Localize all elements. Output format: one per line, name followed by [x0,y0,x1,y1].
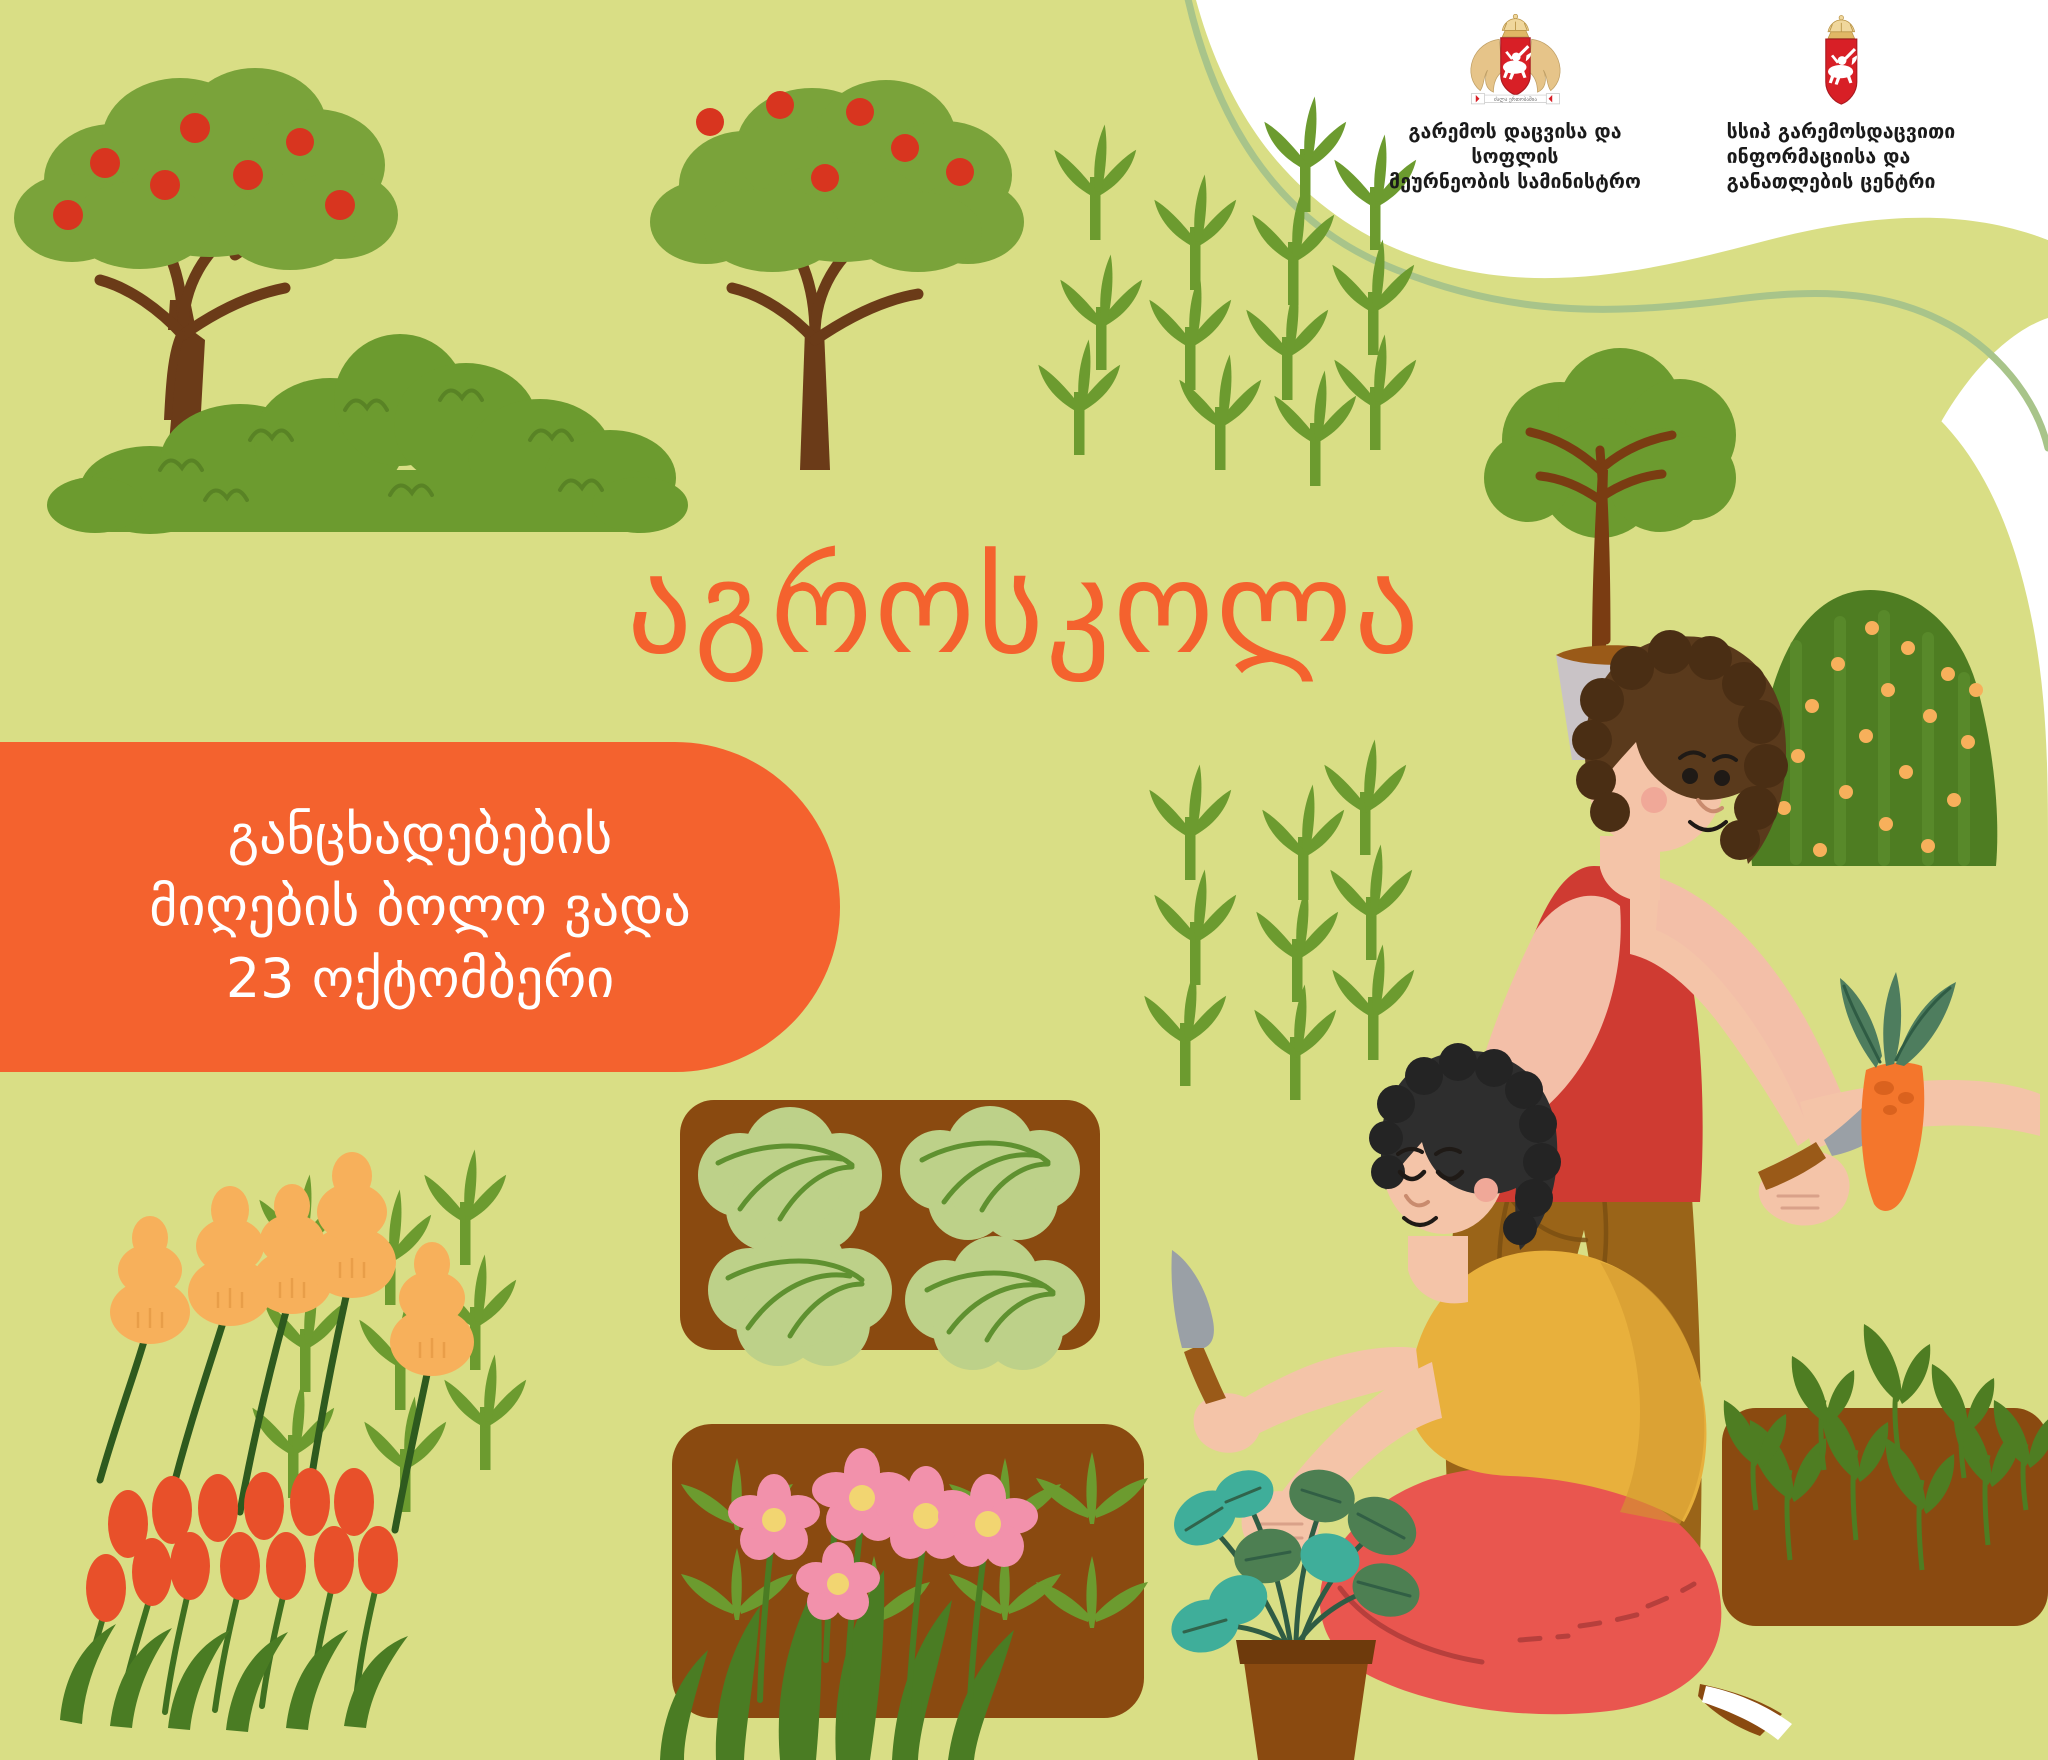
logo-row: ძალა ერთობაშია გარემოს დაცვისა და სოფლის… [1380,14,2020,195]
center-caption: სსიპ გარემოსდაცვითი ინფორმაციისა და განა… [1727,120,1956,195]
page-title: აგროსკოლა [0,545,2048,673]
deadline-banner: განცხადებების მიღების ბოლო ვადა 23 ოქტომ… [0,742,840,1072]
plant-pot [1242,1648,1370,1760]
svg-text:ძალა ერთობაშია: ძალა ერთობაშია [1494,96,1537,103]
georgia-coat-of-arms-shield-icon [1808,14,1875,110]
ministry-caption: გარემოს დაცვისა და სოფლის მეურნეობის სამ… [1380,120,1650,195]
logo-center: სსიპ გარემოსდაცვითი ინფორმაციისა და განა… [1706,14,1976,195]
georgia-coat-of-arms-full-icon: ძალა ერთობაშია [1442,14,1589,110]
poster-canvas: ძალა ერთობაშია გარემოს დაცვისა და სოფლის… [0,0,2048,1760]
logo-ministry: ძალა ერთობაშია გარემოს დაცვისა და სოფლის… [1380,14,1650,195]
cabbage-bed [680,1100,1100,1370]
plant-pot-rim [1236,1640,1376,1664]
deadline-banner-text: განცხადებების მიღების ბოლო ვადა 23 ოქტომ… [149,799,691,1014]
